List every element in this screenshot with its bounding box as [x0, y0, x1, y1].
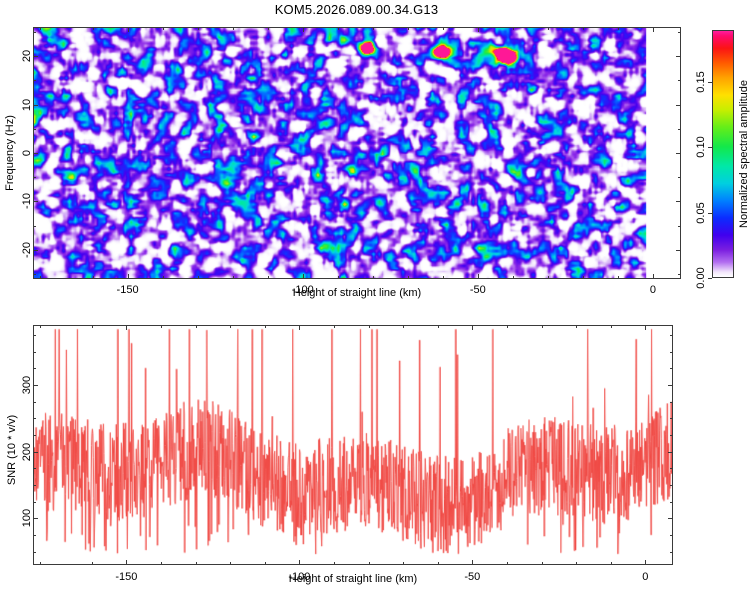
ytick-minor [33, 418, 36, 419]
xtick-minor-top [548, 27, 549, 30]
ytick-right [668, 518, 673, 519]
ytick [33, 452, 38, 453]
xtick-minor [576, 562, 577, 565]
xtick-minor-top [230, 325, 231, 328]
xtick-minor [230, 562, 231, 565]
xtick-minor [163, 276, 164, 279]
ytick-minor-right [678, 226, 681, 227]
xtick-minor-top [265, 325, 266, 328]
xtick-minor [403, 562, 404, 565]
ytick [33, 385, 38, 386]
ytick-label: 200 [21, 437, 33, 467]
spectrogram-yaxis-label: Frequency (Hz) [4, 115, 16, 191]
xtick-minor [265, 562, 266, 565]
spectrogram-xaxis-label: Height of straight line (km) [293, 287, 421, 299]
xtick-minor [198, 276, 199, 279]
xtick-minor-top [268, 27, 269, 30]
figure-canvas: KOM5.2026.089.00.34.G13 -150-100-500-20-… [0, 0, 750, 600]
xtick-minor [611, 562, 612, 565]
xtick-minor-top [611, 325, 612, 328]
ytick-minor-right [670, 552, 673, 553]
xtick-minor-top [198, 27, 199, 30]
xtick-minor-top [438, 325, 439, 328]
xtick [645, 560, 646, 565]
xtick-minor [408, 276, 409, 279]
xtick-minor-top [513, 27, 514, 30]
xtick-minor [618, 276, 619, 279]
ytick-minor [33, 402, 36, 403]
xtick-minor-top [408, 27, 409, 30]
ytick [33, 56, 38, 57]
ytick-minor [33, 32, 36, 33]
ytick-minor-right [670, 485, 673, 486]
xtick-minor-top [369, 325, 370, 328]
ytick-right [676, 201, 681, 202]
ytick-minor [33, 335, 36, 336]
ytick-minor-right [670, 402, 673, 403]
xtick [303, 274, 304, 279]
xtick-top [653, 27, 654, 32]
ytick-label: 100 [21, 503, 33, 533]
ytick-right [668, 385, 673, 386]
ytick-minor [33, 468, 36, 469]
xtick-label: -50 [470, 284, 486, 296]
xtick-top [478, 27, 479, 32]
xtick-minor [268, 276, 269, 279]
page-title: KOM5.2026.089.00.34.G13 [0, 2, 713, 17]
xtick-top [472, 325, 473, 330]
xtick-label: -150 [115, 571, 137, 583]
colorbar-label: Normalized spectral amplitude [738, 80, 750, 228]
xtick-minor [93, 276, 94, 279]
ytick-minor-right [678, 177, 681, 178]
colorbar-tick [708, 147, 712, 148]
spectrogram-heatmap [34, 28, 680, 278]
xtick-minor [40, 562, 41, 565]
colorbar-tick-label: 0.10 [695, 130, 707, 164]
xtick-minor [334, 562, 335, 565]
ytick-minor [33, 502, 36, 503]
ytick-minor [33, 368, 36, 369]
xtick-minor-top [92, 325, 93, 328]
ytick [33, 105, 38, 106]
colorbar-tick-label: 0.00 [695, 261, 707, 295]
xtick-minor [40, 276, 41, 279]
ytick-minor [33, 177, 36, 178]
xtick-minor [373, 276, 374, 279]
ytick-right [676, 153, 681, 154]
xtick-minor-top [334, 325, 335, 328]
snr-yaxis-label: SNR (10 * v/v) [6, 415, 18, 485]
xtick-label: 0 [642, 571, 648, 583]
xtick-minor-top [618, 27, 619, 30]
xtick-minor [548, 276, 549, 279]
ytick [33, 518, 38, 519]
ytick-minor-right [670, 352, 673, 353]
ytick-right [676, 56, 681, 57]
xtick-minor [513, 276, 514, 279]
xtick-minor-top [443, 27, 444, 30]
xtick-minor-top [40, 27, 41, 30]
snr-trace [34, 326, 672, 564]
xtick [128, 274, 129, 279]
ytick-minor [33, 226, 36, 227]
ytick-minor [33, 535, 36, 536]
snr-xaxis-label: Height of straight line (km) [289, 573, 417, 585]
xtick-minor-top [542, 325, 543, 328]
ytick-minor-right [670, 502, 673, 503]
ytick-minor [33, 435, 36, 436]
ytick-minor [33, 129, 36, 130]
ytick-right [668, 452, 673, 453]
ytick-minor [33, 274, 36, 275]
xtick-top [299, 325, 300, 330]
ytick-minor-right [670, 418, 673, 419]
ytick-minor-right [670, 368, 673, 369]
ytick-minor [33, 552, 36, 553]
xtick-label: 0 [650, 284, 656, 296]
ytick-label: -20 [21, 236, 33, 264]
ytick-minor-right [678, 32, 681, 33]
colorbar-tick [708, 82, 712, 83]
xtick-label: -50 [464, 571, 480, 583]
xtick-minor [92, 562, 93, 565]
ytick-minor [33, 485, 36, 486]
ytick-label: 20 [21, 42, 33, 70]
xtick [478, 274, 479, 279]
ytick-minor-right [678, 274, 681, 275]
xtick-minor-top [93, 27, 94, 30]
xtick-top [128, 27, 129, 32]
ytick [33, 153, 38, 154]
xtick [472, 560, 473, 565]
xtick-minor [369, 562, 370, 565]
xtick-minor-top [40, 325, 41, 328]
xtick-minor-top [373, 27, 374, 30]
ytick-minor-right [678, 80, 681, 81]
ytick-label: 10 [21, 91, 33, 119]
xtick [653, 274, 654, 279]
ytick [33, 201, 38, 202]
colorbar-tick-label: 0.05 [695, 196, 707, 230]
xtick-minor [233, 276, 234, 279]
ytick-label: 0 [21, 139, 33, 167]
xtick-minor-top [583, 27, 584, 30]
colorbar [712, 30, 734, 278]
xtick-top [126, 325, 127, 330]
snr-plot [33, 325, 673, 565]
xtick-label: -150 [117, 284, 139, 296]
xtick-minor [338, 276, 339, 279]
xtick-minor [542, 562, 543, 565]
xtick-minor-top [338, 27, 339, 30]
xtick [126, 560, 127, 565]
ytick-right [676, 250, 681, 251]
ytick-minor [33, 80, 36, 81]
ytick-minor [33, 352, 36, 353]
ytick-right [676, 105, 681, 106]
xtick-minor-top [403, 325, 404, 328]
xtick-minor [196, 562, 197, 565]
xtick-minor [438, 562, 439, 565]
xtick-minor [443, 276, 444, 279]
xtick-top [645, 325, 646, 330]
ytick-minor-right [670, 435, 673, 436]
ytick-minor-right [670, 468, 673, 469]
xtick-minor-top [196, 325, 197, 328]
xtick-minor-top [576, 325, 577, 328]
colorbar-tick [708, 278, 712, 279]
ytick-minor-right [670, 535, 673, 536]
xtick-minor [507, 562, 508, 565]
ytick-label: 300 [21, 370, 33, 400]
spectrogram-plot [33, 27, 681, 279]
ytick-label: -10 [21, 187, 33, 215]
ytick-minor-right [678, 129, 681, 130]
xtick-minor-top [161, 325, 162, 328]
xtick-minor [161, 562, 162, 565]
colorbar-tick-label: 0.15 [695, 65, 707, 99]
xtick-minor-top [233, 27, 234, 30]
ytick [33, 250, 38, 251]
colorbar-tick [708, 213, 712, 214]
xtick-minor [583, 276, 584, 279]
xtick-minor-top [163, 27, 164, 30]
xtick-minor-top [507, 325, 508, 328]
ytick-minor-right [670, 335, 673, 336]
xtick-top [303, 27, 304, 32]
xtick [299, 560, 300, 565]
